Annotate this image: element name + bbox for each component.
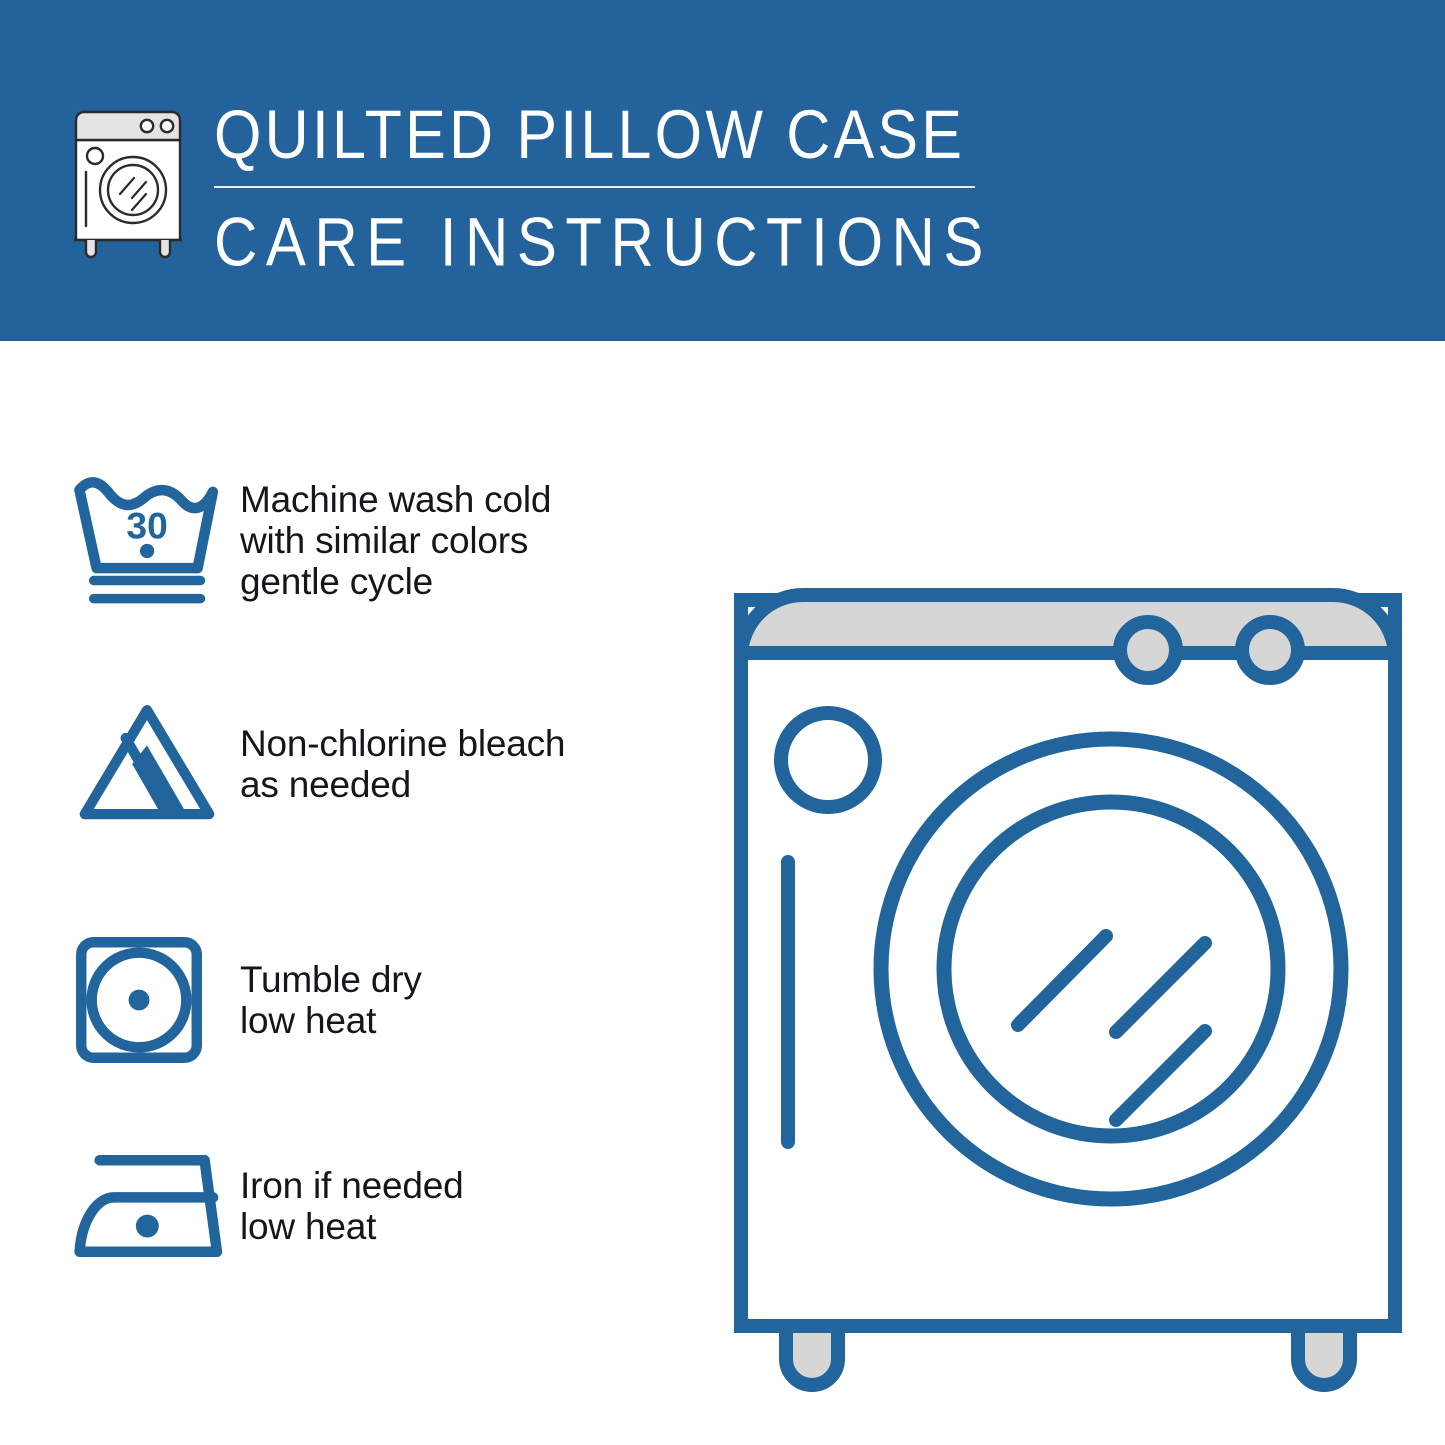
- care-instructions-page: QUILTED PILLOW CASE CARE INSTRUCTIONS 30: [0, 0, 1445, 1445]
- page-subtitle: CARE INSTRUCTIONS: [214, 203, 1004, 283]
- washer-knob: [1242, 622, 1298, 678]
- washer-leg: [786, 1326, 838, 1385]
- tumble-dry-low-icon: [60, 929, 240, 1071]
- washer-knob: [1120, 622, 1176, 678]
- header-title-group: QUILTED PILLOW CASE CARE INSTRUCTIONS: [214, 94, 1004, 273]
- care-row-non-chlorine-bleach: Non-chlorine bleach as needed: [60, 699, 700, 829]
- care-instruction-list: 30 Machine wash cold with similar colors…: [0, 341, 700, 1445]
- wash-temperature-label: 30: [126, 505, 167, 547]
- care-row-iron: Iron if needed low heat: [60, 1144, 700, 1268]
- page-title: QUILTED PILLOW CASE: [214, 94, 1004, 175]
- care-row-label: Tumble dry low heat: [240, 959, 700, 1041]
- care-row-label: Non-chlorine bleach as needed: [240, 723, 700, 805]
- care-row-label: Iron if needed low heat: [240, 1165, 700, 1247]
- wash-tub-30-gentle-icon: 30: [60, 469, 240, 612]
- washer-leg: [1298, 1326, 1350, 1385]
- non-chlorine-bleach-triangle-icon: [60, 699, 240, 829]
- title-divider: [214, 186, 975, 188]
- iron-low-heat-icon: [60, 1144, 240, 1268]
- washing-machine-illustration: [718, 470, 1418, 1370]
- care-row-tumble-dry: Tumble dry low heat: [60, 929, 700, 1071]
- washer-indicator-light: [781, 713, 875, 807]
- washing-machine-icon: [64, 102, 192, 262]
- care-row-machine-wash: 30 Machine wash cold with similar colors…: [60, 469, 700, 612]
- page-header: QUILTED PILLOW CASE CARE INSTRUCTIONS: [0, 0, 1445, 341]
- washer-drum-inner: [944, 802, 1278, 1136]
- care-row-label: Machine wash cold with similar colors ge…: [240, 479, 700, 602]
